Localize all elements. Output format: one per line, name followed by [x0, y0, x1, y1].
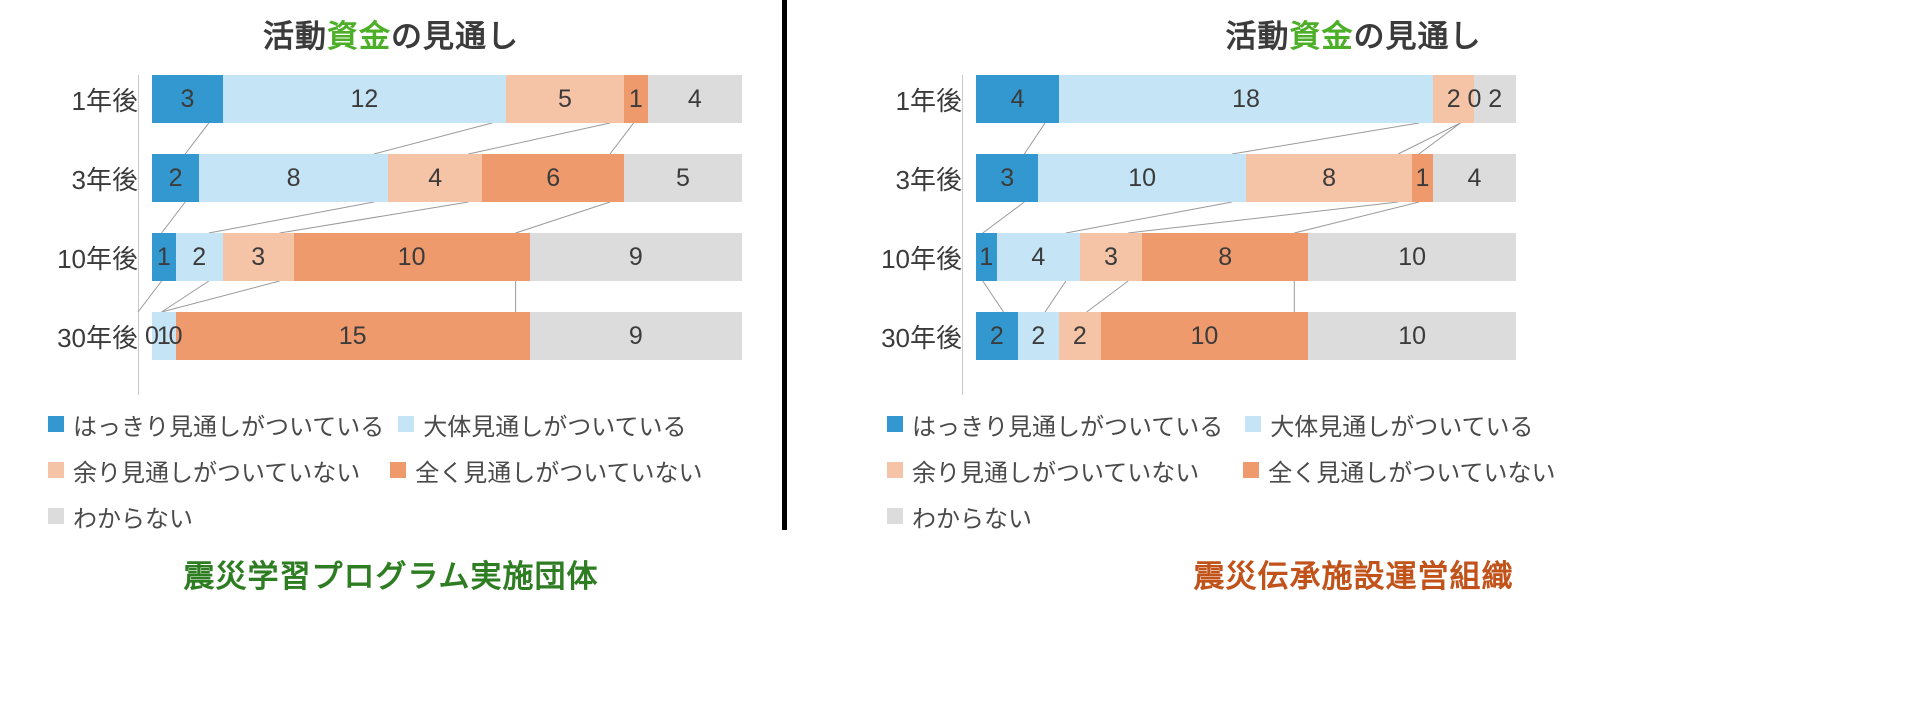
segment-connector-line [1232, 123, 1419, 154]
legend-swatch-icon [1243, 462, 1259, 478]
right-title-accent: 資金 [1290, 19, 1354, 54]
bar-row: 1年後418202 [787, 75, 1516, 123]
row-category-label: 3年後 [18, 160, 152, 197]
segment-connector-line [374, 123, 492, 154]
legend-swatch-icon [390, 462, 406, 478]
segment-value-label: 9 [629, 243, 643, 272]
segment-value-label: 10 [1128, 164, 1156, 193]
row-category-label: 1年後 [18, 81, 152, 118]
row-category-label: 10年後 [842, 239, 976, 276]
segment-value-label: 3 [251, 243, 265, 272]
segment-value-label: 3 [1104, 243, 1118, 272]
segment-connector-line [162, 281, 209, 312]
segment-connector-line [468, 123, 610, 154]
segment-value-label: 3 [180, 85, 194, 114]
segment-value-label: 12 [350, 85, 378, 114]
legend-label: 全く見通しがついていない [415, 453, 702, 488]
bar-segment: 3 [976, 154, 1038, 202]
bar-segment: 1 [624, 75, 648, 123]
right-plot-area: 1年後4182023年後31081410年後14381030年後2221010 [787, 75, 1920, 395]
legend-item[interactable]: わからない [48, 499, 193, 534]
bar-segment: 10 [294, 233, 530, 281]
segment-connector-line [1398, 123, 1460, 154]
segment-connector-line [1128, 202, 1398, 233]
segment-value-label: 10 [1191, 322, 1219, 351]
bar-segment: 2 [152, 154, 199, 202]
legend-swatch-icon [48, 508, 64, 524]
segment-connector-line [1045, 281, 1066, 312]
legend-label: はっきり見通しがついている [912, 407, 1223, 442]
bar-segment: 6 [482, 154, 624, 202]
bar-segment: 4 [1433, 154, 1516, 202]
bar-segment: 4 [976, 75, 1059, 123]
legend-label: 余り見通しがついていない [73, 453, 360, 488]
segment-connector-line [162, 202, 186, 233]
bar-segment: 8 [1246, 154, 1412, 202]
legend-label: 大体見通しがついている [423, 407, 686, 442]
segment-value-label: 3 [1000, 164, 1014, 193]
segment-connector-line [138, 281, 162, 312]
left-caption: 震災学習プログラム実施団体 [0, 551, 782, 596]
segment-value-label: 1 [1416, 164, 1430, 193]
right-caption: 震災伝承施設運営組織 [787, 551, 1920, 596]
segment-value-label: 2 [1447, 85, 1461, 114]
segment-connector-line [1087, 281, 1129, 312]
bar-row: 3年後310814 [787, 154, 1516, 202]
legend-swatch-icon [48, 416, 64, 432]
legend-label: 余り見通しがついていない [912, 453, 1199, 488]
segment-value-label: 5 [558, 85, 572, 114]
left-chart-title: 活動資金の見通し [0, 15, 782, 59]
legend-row: はっきり見通しがついている大体見通しがついている [48, 401, 782, 447]
bar-segment: 2 [976, 312, 1018, 360]
segment-value-label: 1 [157, 243, 171, 272]
bar-row: 10年後123109 [0, 233, 742, 281]
segment-value-label: 10 [1398, 322, 1426, 351]
segment-value-label: 2 [1031, 322, 1045, 351]
segment-connector-line [1066, 202, 1232, 233]
bar-segment: 10 [1101, 312, 1309, 360]
segment-value-label: 6 [546, 164, 560, 193]
bar-segment: 12 [223, 75, 506, 123]
legend-row: わからない [887, 493, 1920, 539]
segment-value-label: 2 [169, 164, 183, 193]
row-category-label: 3年後 [842, 160, 976, 197]
bar-segment: 1 [152, 233, 176, 281]
legend-row: わからない [48, 493, 782, 539]
segment-value-label: 5 [676, 164, 690, 193]
right-title-pre: 活動 [1226, 19, 1290, 54]
right-chart-panel: 活動資金の見通し 1年後4182023年後31081410年後14381030年… [787, 0, 1920, 718]
left-plot-area: 1年後3125143年後2846510年後12310930年後010159 [0, 75, 782, 395]
right-legend: はっきり見通しがついている大体見通しがついている余り見通しがついていない全く見通… [787, 401, 1920, 539]
segment-value-label: 10 [398, 243, 426, 272]
segment-value-label: 15 [339, 322, 367, 351]
segment-value-label: 2 [1488, 85, 1502, 114]
bar-segment: 10 [1308, 233, 1516, 281]
segment-value-label: 8 [1322, 164, 1336, 193]
segment-value-label: 4 [1467, 164, 1481, 193]
right-title-post: の見通し [1354, 19, 1482, 54]
bar-segment: 15 [176, 312, 530, 360]
legend-item[interactable]: 余り見通しがついていない [887, 453, 1199, 488]
legend-item[interactable]: わからない [887, 499, 1032, 534]
row-category-label: 10年後 [18, 239, 152, 276]
legend-swatch-icon [1245, 416, 1261, 432]
segment-value-label: 2 [990, 322, 1004, 351]
segment-value-label: 4 [1011, 85, 1025, 114]
segment-connector-line [280, 202, 469, 233]
left-chart-panel: 活動資金の見通し 1年後3125143年後2846510年後12310930年後… [0, 0, 782, 718]
segment-value-label: 10 [1398, 243, 1426, 272]
stacked-bar: 010159 [152, 312, 742, 360]
bar-segment: 8 [199, 154, 388, 202]
bar-segment: 9 [530, 312, 742, 360]
legend-item[interactable]: はっきり見通しがついている [48, 407, 384, 442]
left-title-post: の見通し [391, 19, 519, 54]
segment-connector-line [209, 202, 374, 233]
right-chart-title: 活動資金の見通し [787, 15, 1920, 59]
segment-connector-line [983, 281, 1004, 312]
bar-segment: 4 [388, 154, 482, 202]
bar-segment: 3 [223, 233, 294, 281]
segment-value-label: 8 [287, 164, 301, 193]
bar-row: 10年後143810 [787, 233, 1516, 281]
legend-label: 大体見通しがついている [1270, 407, 1533, 442]
segment-value-label: 4 [688, 85, 702, 114]
stacked-bar: 310814 [976, 154, 1516, 202]
legend-swatch-icon [887, 462, 903, 478]
legend-item[interactable]: 大体見通しがついている [1245, 407, 1533, 442]
left-legend: はっきり見通しがついている大体見通しがついている余り見通しがついていない全く見通… [0, 401, 782, 539]
segment-connector-line [162, 281, 280, 312]
bar-segment: 9 [530, 233, 742, 281]
segment-value-label: 2 [1073, 322, 1087, 351]
legend-item[interactable]: はっきり見通しがついている [887, 407, 1223, 442]
stacked-bar: 123109 [152, 233, 742, 281]
legend-item[interactable]: 全く見通しがついていない [390, 453, 702, 488]
legend-label: わからない [912, 499, 1032, 534]
segment-connector-line [610, 123, 634, 154]
stacked-bar: 312514 [152, 75, 742, 123]
left-title-accent: 資金 [327, 19, 391, 54]
slide-canvas: 活動資金の見通し 1年後3125143年後2846510年後12310930年後… [0, 0, 1920, 718]
row-category-label: 30年後 [842, 318, 976, 355]
bar-segment: 10 [1038, 154, 1246, 202]
row-category-label: 1年後 [842, 81, 976, 118]
segment-connector-line [1419, 123, 1461, 154]
legend-label: わからない [73, 499, 193, 534]
legend-row: 余り見通しがついていない全く見通しがついていない [887, 447, 1920, 493]
segment-connector-line [983, 202, 1025, 233]
segment-value-label: 18 [1232, 85, 1260, 114]
segment-value-label: 0 [169, 322, 183, 351]
bar-segment: 2 [1059, 312, 1101, 360]
bar-segment: 1 [976, 233, 997, 281]
segment-connector-line [1024, 123, 1045, 154]
segment-value-label: 8 [1218, 243, 1232, 272]
bar-segment: 1 [1412, 154, 1433, 202]
segment-value-label: 9 [629, 322, 643, 351]
legend-swatch-icon [887, 508, 903, 524]
stacked-bar: 2221010 [976, 312, 1516, 360]
segment-value-label: 4 [428, 164, 442, 193]
legend-row: 余り見通しがついていない全く見通しがついていない [48, 447, 782, 493]
stacked-bar: 28465 [152, 154, 742, 202]
stacked-bar: 143810 [976, 233, 1516, 281]
bar-segment: 2 [176, 233, 223, 281]
legend-swatch-icon [887, 416, 903, 432]
stacked-bar: 418202 [976, 75, 1516, 123]
legend-swatch-icon [398, 416, 414, 432]
segment-connector-line [516, 202, 610, 233]
row-category-label: 30年後 [18, 318, 152, 355]
legend-item[interactable]: 余り見通しがついていない [48, 453, 360, 488]
legend-row: はっきり見通しがついている大体見通しがついている [887, 401, 1920, 447]
bar-segment: 4 [997, 233, 1080, 281]
segment-value-label: 4 [1031, 243, 1045, 272]
segment-value-label: 1 [979, 243, 993, 272]
segment-connector-line [1294, 202, 1419, 233]
legend-label: はっきり見通しがついている [73, 407, 384, 442]
bar-segment: 8 [1142, 233, 1308, 281]
bar-row: 1年後312514 [0, 75, 742, 123]
segment-connector-line [185, 123, 209, 154]
bar-segment: 5 [506, 75, 624, 123]
legend-item[interactable]: 大体見通しがついている [398, 407, 686, 442]
segment-value-label: 2 [192, 243, 206, 272]
left-title-pre: 活動 [263, 19, 327, 54]
bar-segment: 18 [1059, 75, 1433, 123]
bar-row: 30年後2221010 [787, 312, 1516, 360]
bar-segment: 2 [1018, 312, 1060, 360]
legend-label: 全く見通しがついていない [1268, 453, 1555, 488]
bar-segment: 10 [1308, 312, 1516, 360]
segment-value-label: 0 [1467, 85, 1481, 114]
bar-row: 3年後28465 [0, 154, 742, 202]
legend-item[interactable]: 全く見通しがついていない [1243, 453, 1555, 488]
bar-row: 30年後010159 [0, 312, 742, 360]
bar-segment: 3 [152, 75, 223, 123]
segment-value-label: 1 [629, 85, 643, 114]
legend-swatch-icon [48, 462, 64, 478]
bar-segment: 5 [624, 154, 742, 202]
bar-segment: 3 [1080, 233, 1142, 281]
bar-segment: 4 [648, 75, 742, 123]
